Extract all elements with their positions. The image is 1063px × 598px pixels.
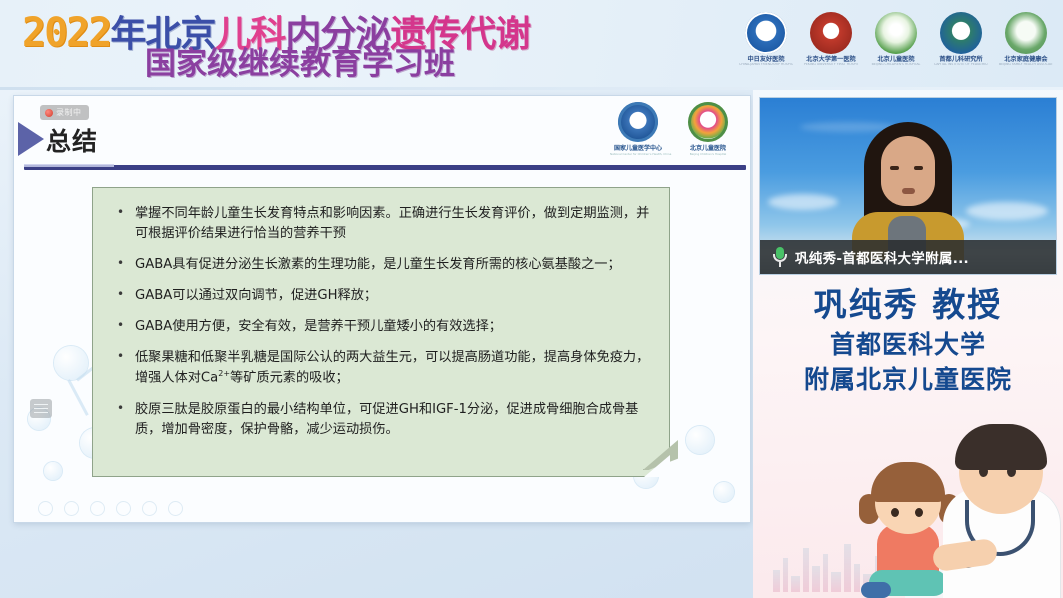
hospital-crest-icon xyxy=(810,12,852,54)
doctor-hair xyxy=(955,424,1047,470)
sponsor-logo-2: 北京儿童医院 BEIJING CHILDREN'S HOSPITAL xyxy=(869,12,923,67)
slide-header-rule-highlight xyxy=(24,164,114,167)
sponsor-logo-1: 北京大学第一医院 PEKING UNIVERSITY FIRST HOSPITA… xyxy=(804,12,858,67)
face xyxy=(881,136,935,206)
list-item: 胶原三肽是胶原蛋白的最小结构单位，可促进GH和IGF-1分泌，促进成骨细胞合成骨… xyxy=(101,400,653,440)
sponsor-logo-4: 北京家庭健康会 BEIJING FAMILY HEALTH ASSOCIATIO… xyxy=(999,12,1053,67)
speaker-affiliation-line-2: 附属北京儿童医院 xyxy=(753,364,1063,395)
eye-left xyxy=(890,166,899,170)
sponsor-logo-0: 中日友好医院 CHINA-JAPAN FRIENDSHIP HOSPITAL xyxy=(739,12,793,67)
sponsor-name-en-2: BEIJING CHILDREN'S HOSPITAL xyxy=(869,63,923,67)
summary-content-box: 掌握不同年龄儿童生长发育特点和影响因素。正确进行生长发育评价，做到定期监测，并可… xyxy=(92,187,670,477)
sponsor-logo-row: 中日友好医院 CHINA-JAPAN FRIENDSHIP HOSPITAL 北… xyxy=(739,12,1053,67)
slide-footer-toolbar[interactable] xyxy=(38,501,183,516)
slide-logo-name-en-1: Beijing Children's Hospital xyxy=(680,152,736,156)
triangle-bullet-icon xyxy=(18,122,44,156)
banner-subtitle: 国家级继续教育学习班 xyxy=(145,49,455,80)
list-item: GABA具有促进分泌生长激素的生理功能，是儿童生长发育所需的核心氨基酸之一； xyxy=(101,255,653,275)
slide-logo-row: 国家儿童医学中心 National Center for Children's … xyxy=(610,102,736,156)
sponsor-name-en-4: BEIJING FAMILY HEALTH ASSOCIATION xyxy=(999,63,1053,67)
slide-logo-name-0: 国家儿童医学中心 xyxy=(610,143,666,152)
video-feed[interactable]: 巩纯秀-首都医科大学附属... xyxy=(760,98,1056,274)
banner-year: 2022 xyxy=(22,10,110,56)
slide-header: 录制中 总结 国家儿童医学中心 National Center for Chil… xyxy=(14,96,750,168)
slide-logo-0: 国家儿童医学中心 National Center for Children's … xyxy=(610,102,666,156)
sponsor-name-3: 首都儿科研究所 xyxy=(935,56,986,63)
microphone-icon xyxy=(773,247,787,267)
list-item: GABA使用方便，安全有效，是营养干预儿童矮小的有效选择； xyxy=(101,317,653,337)
speaker-name: 巩纯秀 教授 xyxy=(753,286,1063,325)
mouth xyxy=(902,188,915,194)
recording-label: 录制中 xyxy=(56,107,82,118)
video-nameplate: 巩纯秀-首都医科大学附属... xyxy=(760,240,1056,274)
presentation-slide[interactable]: 录制中 总结 国家儿童医学中心 National Center for Chil… xyxy=(14,96,750,522)
sponsor-name-en-3: CAPITAL INSTITUTE OF PEDIATRICS xyxy=(934,63,988,67)
speaker-video-person xyxy=(850,110,966,260)
play-icon[interactable] xyxy=(38,501,53,516)
zoom-icon[interactable] xyxy=(142,501,157,516)
doctor-child-illustration xyxy=(753,428,1063,598)
slide-title: 总结 xyxy=(46,122,98,158)
list-item: GABA可以通过双向调节，促进GH释放； xyxy=(101,286,653,306)
slide-logo-name-en-0: National Center for Children's Health, C… xyxy=(610,152,666,156)
slide-logo-name-1: 北京儿童医院 xyxy=(680,143,736,152)
association-crest-icon xyxy=(1005,12,1047,54)
sponsor-name-1: 北京大学第一医院 xyxy=(805,56,856,63)
record-dot-icon xyxy=(45,109,53,117)
doctor-illustration xyxy=(919,430,1063,598)
child-shoe xyxy=(861,582,891,598)
list-item: 低聚果糖和低聚半乳糖是国际公认的两大益生元，可以提高肠道功能，提高身体免疫力，增… xyxy=(101,348,653,389)
childrens-hospital-crest-icon xyxy=(688,102,728,142)
participant-name: 巩纯秀-首都医科大学附属... xyxy=(795,247,969,267)
event-banner: 2022年北京儿科内分泌遗传代谢 国家级继续教育学习班 中日友好医院 CHINA… xyxy=(0,0,1063,90)
sponsor-name-en-0: CHINA-JAPAN FRIENDSHIP HOSPITAL xyxy=(739,63,793,67)
list-item: 掌握不同年龄儿童生长发育特点和影响因素。正确进行生长发育评价，做到定期监测，并可… xyxy=(101,204,653,244)
sponsor-name-en-1: PEKING UNIVERSITY FIRST HOSPITAL xyxy=(804,63,858,67)
recording-badge: 录制中 xyxy=(40,105,89,120)
app-window: 2022年北京儿科内分泌遗传代谢 国家级继续教育学习班 中日友好医院 CHINA… xyxy=(0,0,1063,598)
speaker-affiliation-line-1: 首都医科大学 xyxy=(753,329,1063,360)
slide-header-rule xyxy=(24,165,746,170)
speaker-panel: 巩纯秀-首都医科大学附属... 巩纯秀 教授 首都医科大学 附属北京儿童医院 xyxy=(753,90,1063,598)
sponsor-name-0: 中日友好医院 xyxy=(740,56,791,63)
summary-bullet-list: 掌握不同年龄儿童生长发育特点和影响因素。正确进行生长发育评价，做到定期监测，并可… xyxy=(101,204,653,440)
slide-menu-button[interactable] xyxy=(30,399,52,418)
speaker-info: 巩纯秀 教授 首都医科大学 附属北京儿童医院 xyxy=(753,286,1063,395)
hospital-crest-icon xyxy=(875,12,917,54)
more-icon[interactable] xyxy=(168,501,183,516)
sponsor-name-4: 北京家庭健康会 xyxy=(1000,56,1051,63)
pen-icon[interactable] xyxy=(90,501,105,516)
prev-icon[interactable] xyxy=(64,501,79,516)
national-center-crest-icon xyxy=(618,102,658,142)
camera-icon[interactable] xyxy=(116,501,131,516)
banner-title: 2022年北京儿科内分泌遗传代谢 国家级继续教育学习班 xyxy=(22,5,492,83)
sponsor-name-2: 北京儿童医院 xyxy=(870,56,921,63)
sponsor-logo-3: 首都儿科研究所 CAPITAL INSTITUTE OF PEDIATRICS xyxy=(934,12,988,67)
eye-right xyxy=(914,166,923,170)
hospital-crest-icon xyxy=(745,12,787,54)
child-eye-left xyxy=(891,508,899,517)
slide-logo-1: 北京儿童医院 Beijing Children's Hospital xyxy=(680,102,736,156)
institute-crest-icon xyxy=(940,12,982,54)
